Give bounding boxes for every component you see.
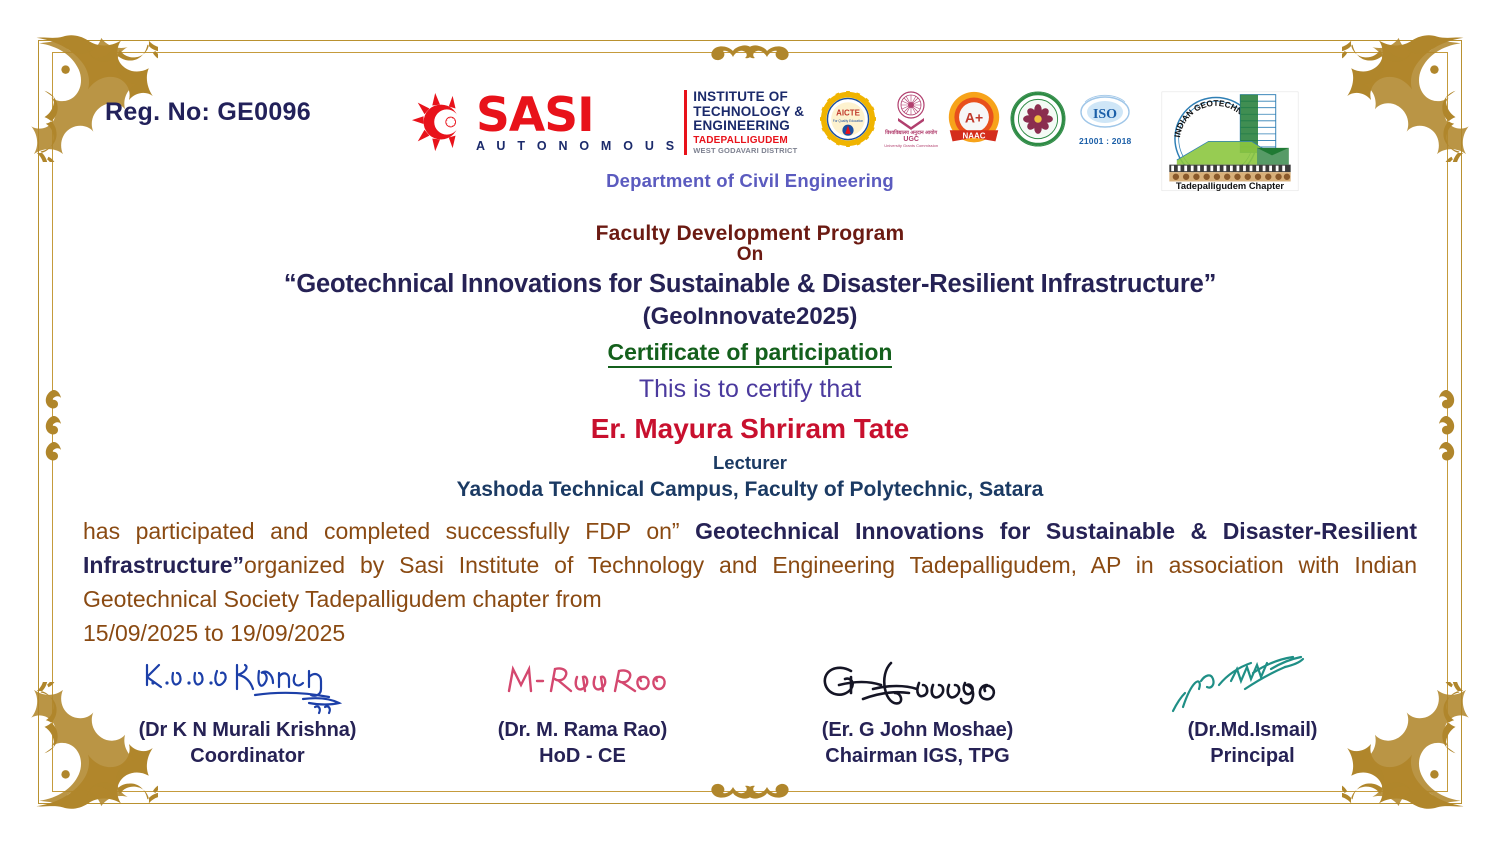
program-kind: Faculty Development Program (80, 222, 1420, 246)
certificate-content: Reg. No: GE0096 (80, 70, 1420, 774)
iso-standard-number: 21001 : 2018 (1079, 136, 1132, 146)
body-dates: 15/09/2025 to 19/09/2025 (83, 616, 1417, 650)
certify-intro: This is to certify that (80, 375, 1420, 404)
sasi-wordmark: SASI A U T O N O M O U S (476, 92, 678, 153)
handwritten-signature-blue (98, 655, 398, 717)
sasi-institute-line-2: TECHNOLOGY & (693, 105, 804, 120)
signature-row: (Dr K N Murali Krishna) Coordinator (80, 655, 1420, 768)
svg-text:For Quality Education: For Quality Education (833, 119, 864, 123)
sasi-institute-block: INSTITUTE OF TECHNOLOGY & ENGINEERING TA… (684, 90, 804, 155)
program-title: “Geotechnical Innovations for Sustainabl… (80, 270, 1420, 299)
jntuk-badge-icon (1010, 91, 1066, 147)
aicte-badge-icon: AICTE For Quality Education (820, 91, 876, 147)
ornament-flourish-top-icon (675, 36, 825, 66)
signature-block-coordinator: (Dr K N Murali Krishna) Coordinator (98, 655, 398, 768)
handwritten-signature-teal (1103, 655, 1403, 717)
registration-number: Reg. No: GE0096 (105, 98, 311, 127)
sasi-name: SASI (476, 92, 678, 139)
signature-block-hod: (Dr. M. Rama Rao) HoD - CE (433, 655, 733, 768)
signatory-role: Coordinator (98, 745, 398, 768)
signatory-name: (Dr. M. Rama Rao) (433, 719, 733, 742)
ugc-subtitle: University Grants Commission (884, 143, 938, 148)
ugc-label: UGC (903, 136, 919, 143)
signatory-name: (Dr.Md.Ismail) (1103, 719, 1403, 742)
accreditation-badges: AICTE For Quality Education (820, 90, 1136, 148)
ornament-flourish-right-icon (1436, 379, 1462, 465)
certificate-body: has participated and completed successfu… (80, 514, 1420, 650)
signature-block-principal: (Dr.Md.Ismail) Principal (1103, 655, 1403, 768)
recipient-name: Er. Mayura Shriram Tate (80, 413, 1420, 445)
sasi-location: TADEPALLIGUDEM (693, 135, 804, 146)
iso-badge-icon: ISO 21001 : 2018 (1074, 92, 1136, 146)
signatory-name: (Dr K N Murali Krishna) (98, 719, 398, 742)
certificate-heading-wrap: Certificate of participation (80, 339, 1420, 366)
department-line: Department of Civil Engineering (80, 170, 1420, 192)
ugc-badge-icon: विश्वविद्यालय अनुदान आयोग UGC University… (884, 90, 938, 148)
certificate-heading: Certificate of participation (608, 339, 893, 368)
handwritten-signature-black (768, 655, 1068, 717)
sasi-institute-line-3: ENGINEERING (693, 119, 804, 134)
body-part-2: organized by Sasi Institute of Technolog… (83, 552, 1417, 612)
svg-text:NAAC: NAAC (963, 132, 986, 141)
sasi-district: WEST GODAVARI DISTRICT (693, 146, 804, 155)
signature-block-chairman: (Er. G John Moshae) Chairman IGS, TPG (768, 655, 1068, 768)
ornament-flourish-bottom-icon (675, 778, 825, 808)
sasi-institution-logo: SASI A U T O N O M O U S INSTITUTE OF TE… (410, 90, 804, 155)
body-part-1: has participated and completed successfu… (83, 518, 695, 544)
program-acronym: (GeoInnovate2025) (80, 303, 1420, 331)
ornament-flourish-left-icon (38, 379, 64, 465)
signatory-role: Principal (1103, 745, 1403, 768)
certificate-page: Reg. No: GE0096 (0, 0, 1500, 844)
program-on-label: On (80, 244, 1420, 266)
sasi-sun-icon (410, 91, 472, 153)
sasi-institute-line-1: INSTITUTE OF (693, 90, 804, 105)
handwritten-signature-pink (433, 655, 733, 717)
sasi-autonomous-label: A U T O N O M O U S (476, 140, 678, 153)
svg-text:AICTE: AICTE (836, 108, 860, 117)
recipient-designation: Lecturer (80, 452, 1420, 474)
naac-badge-icon: A+ NAAC (946, 91, 1002, 147)
signatory-role: HoD - CE (433, 745, 733, 768)
recipient-organization: Yashoda Technical Campus, Faculty of Pol… (80, 478, 1420, 502)
signatory-role: Chairman IGS, TPG (768, 745, 1068, 768)
signatory-name: (Er. G John Moshae) (768, 719, 1068, 742)
svg-text:A+: A+ (965, 110, 983, 126)
svg-text:ISO: ISO (1093, 107, 1117, 122)
